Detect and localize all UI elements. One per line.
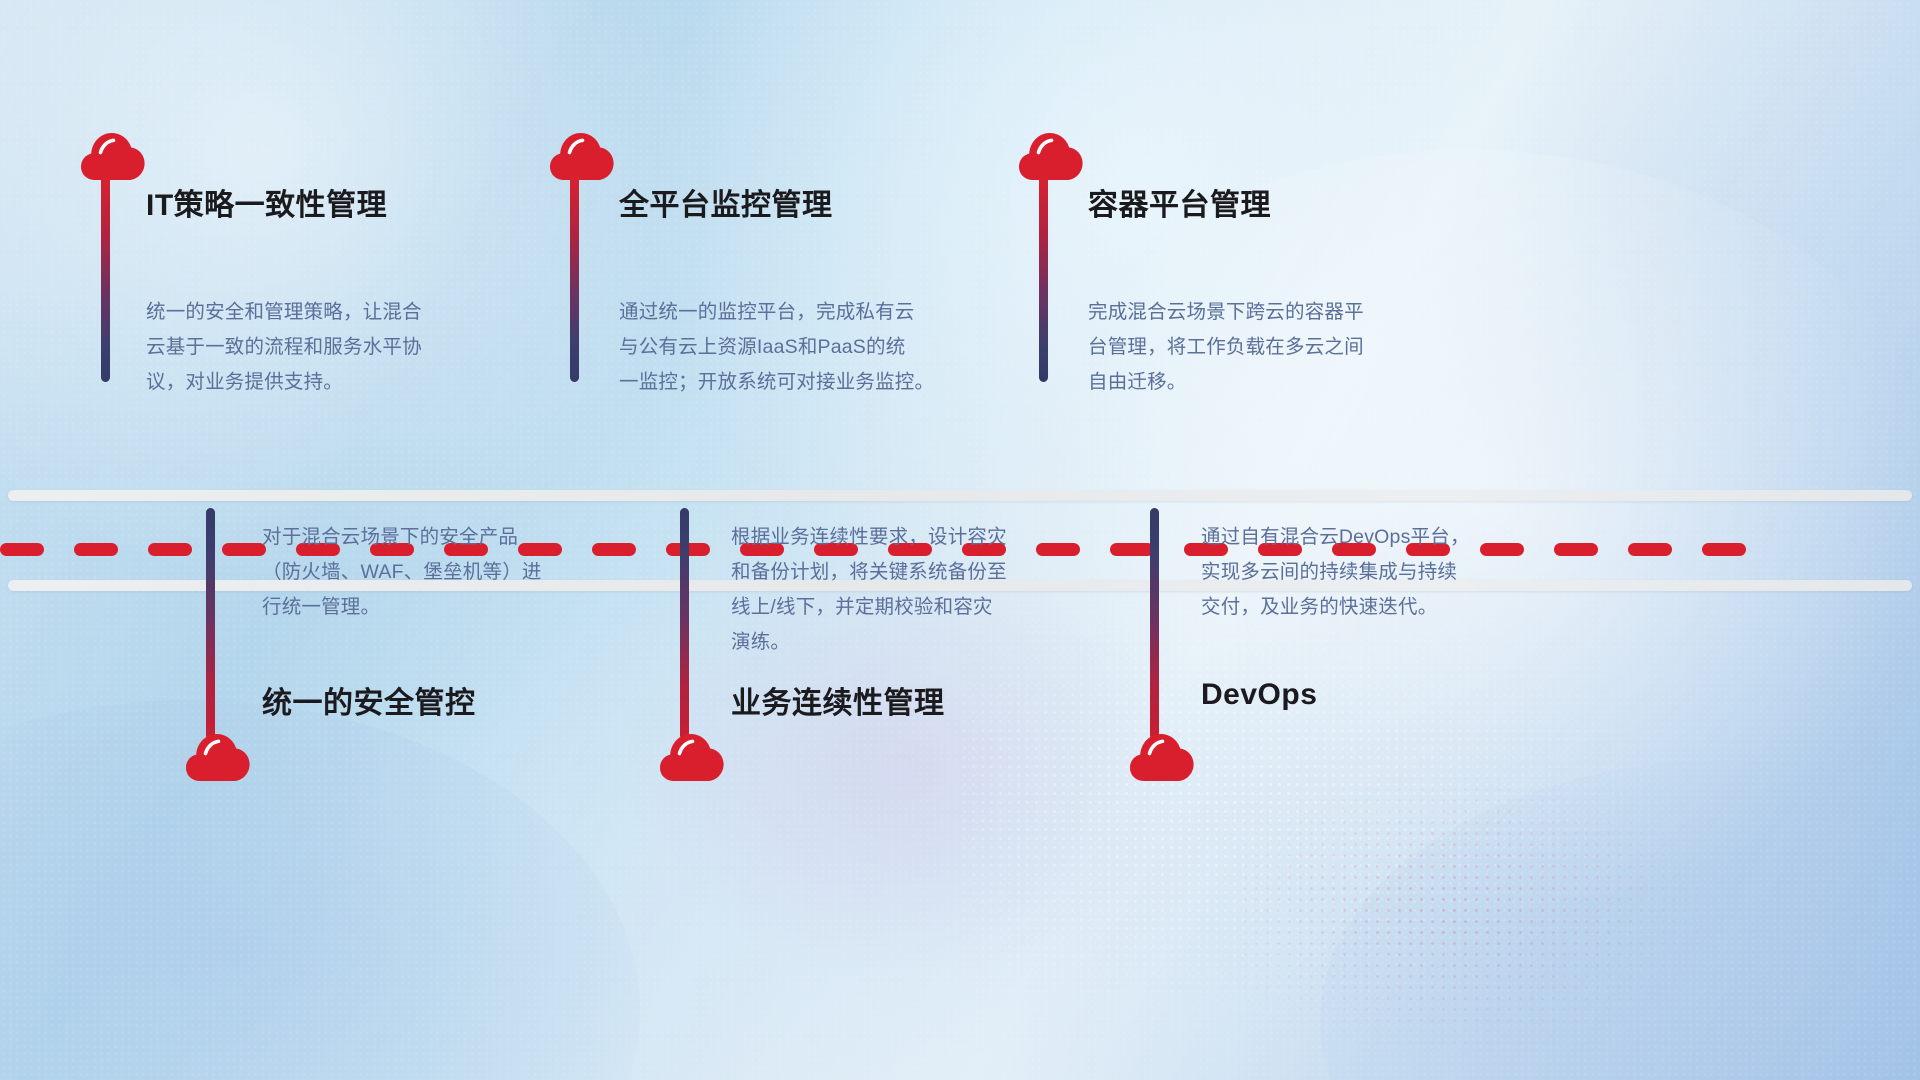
background-dot-cluster [960,600,1720,1060]
card-body: 通过统一的监控平台，完成私有云 与公有云上资源IaaS和PaaS的统 一监控；开… [619,295,934,400]
divider-dash [592,543,636,556]
card-title: 业务连续性管理 [731,678,945,722]
card-body: 通过自有混合云DevOps平台， 实现多云间的持续集成与持续 交付，及业务的快速… [1201,520,1470,625]
body-line: 演练。 [731,625,1007,660]
body-line: 通过统一的监控平台，完成私有云 [619,295,934,330]
connector-stem [101,176,110,382]
cloud-icon [1129,731,1195,783]
body-line: 通过自有混合云DevOps平台， [1201,520,1470,555]
card-title: 容器平台管理 [1088,180,1271,224]
cloud-icon [185,731,251,783]
body-line: 云基于一致的流程和服务水平协 [146,330,422,365]
body-line: 行统一管理。 [262,590,542,625]
divider-dash [1036,543,1080,556]
card-title: 统一的安全管控 [262,678,476,722]
cloud-icon [1018,130,1084,182]
divider-dash [74,543,118,556]
body-line: 交付，及业务的快速迭代。 [1201,590,1470,625]
body-line: 台管理，将工作负载在多云之间 [1088,330,1364,365]
body-line: 统一的安全和管理策略，让混合 [146,295,422,330]
connector-stem [1039,176,1048,382]
divider-dash [1628,543,1672,556]
body-line: 与公有云上资源IaaS和PaaS的统 [619,330,934,365]
divider-dash [0,543,44,556]
background-glow [0,700,640,1080]
divider-dash [222,543,266,556]
body-line: 线上/线下，并定期校验和容灾 [731,590,1007,625]
body-line: 根据业务连续性要求，设计容灾 [731,520,1007,555]
body-line: 实现多云间的持续集成与持续 [1201,555,1470,590]
connector-stem [680,508,689,740]
connector-stem [1150,508,1159,740]
card-body: 完成混合云场景下跨云的容器平 台管理，将工作负载在多云之间 自由迁移。 [1088,295,1364,400]
divider-dash [148,543,192,556]
body-line: 对于混合云场景下的安全产品 [262,520,542,555]
background-dot-cluster-red [1240,740,1760,1080]
cloud-icon [80,130,146,182]
divider-bar-top [8,490,1912,501]
cloud-icon [549,130,615,182]
body-line: 自由迁移。 [1088,365,1364,400]
card-body: 根据业务连续性要求，设计容灾 和备份计划，将关键系统备份至 线上/线下，并定期校… [731,520,1007,660]
body-line: 一监控；开放系统可对接业务监控。 [619,365,934,400]
divider-dash [1110,543,1154,556]
body-line: 完成混合云场景下跨云的容器平 [1088,295,1364,330]
body-line: 和备份计划，将关键系统备份至 [731,555,1007,590]
card-title: 全平台监控管理 [619,180,833,224]
divider-dash [1702,543,1746,556]
card-body: 对于混合云场景下的安全产品 （防火墙、WAF、堡垒机等）进 行统一管理。 [262,520,542,625]
divider-dash [1480,543,1524,556]
infographic-canvas: IT策略一致性管理 统一的安全和管理策略，让混合 云基于一致的流程和服务水平协 … [0,0,1920,1080]
card-title: DevOps [1201,678,1317,712]
card-title: IT策略一致性管理 [146,180,387,224]
background-glow [1320,760,1920,1080]
cloud-icon [659,731,725,783]
body-line: （防火墙、WAF、堡垒机等）进 [262,555,542,590]
connector-stem [206,508,215,740]
card-body: 统一的安全和管理策略，让混合 云基于一致的流程和服务水平协 议，对业务提供支持。 [146,295,422,400]
body-line: 议，对业务提供支持。 [146,365,422,400]
connector-stem [570,176,579,382]
divider-dash [1554,543,1598,556]
